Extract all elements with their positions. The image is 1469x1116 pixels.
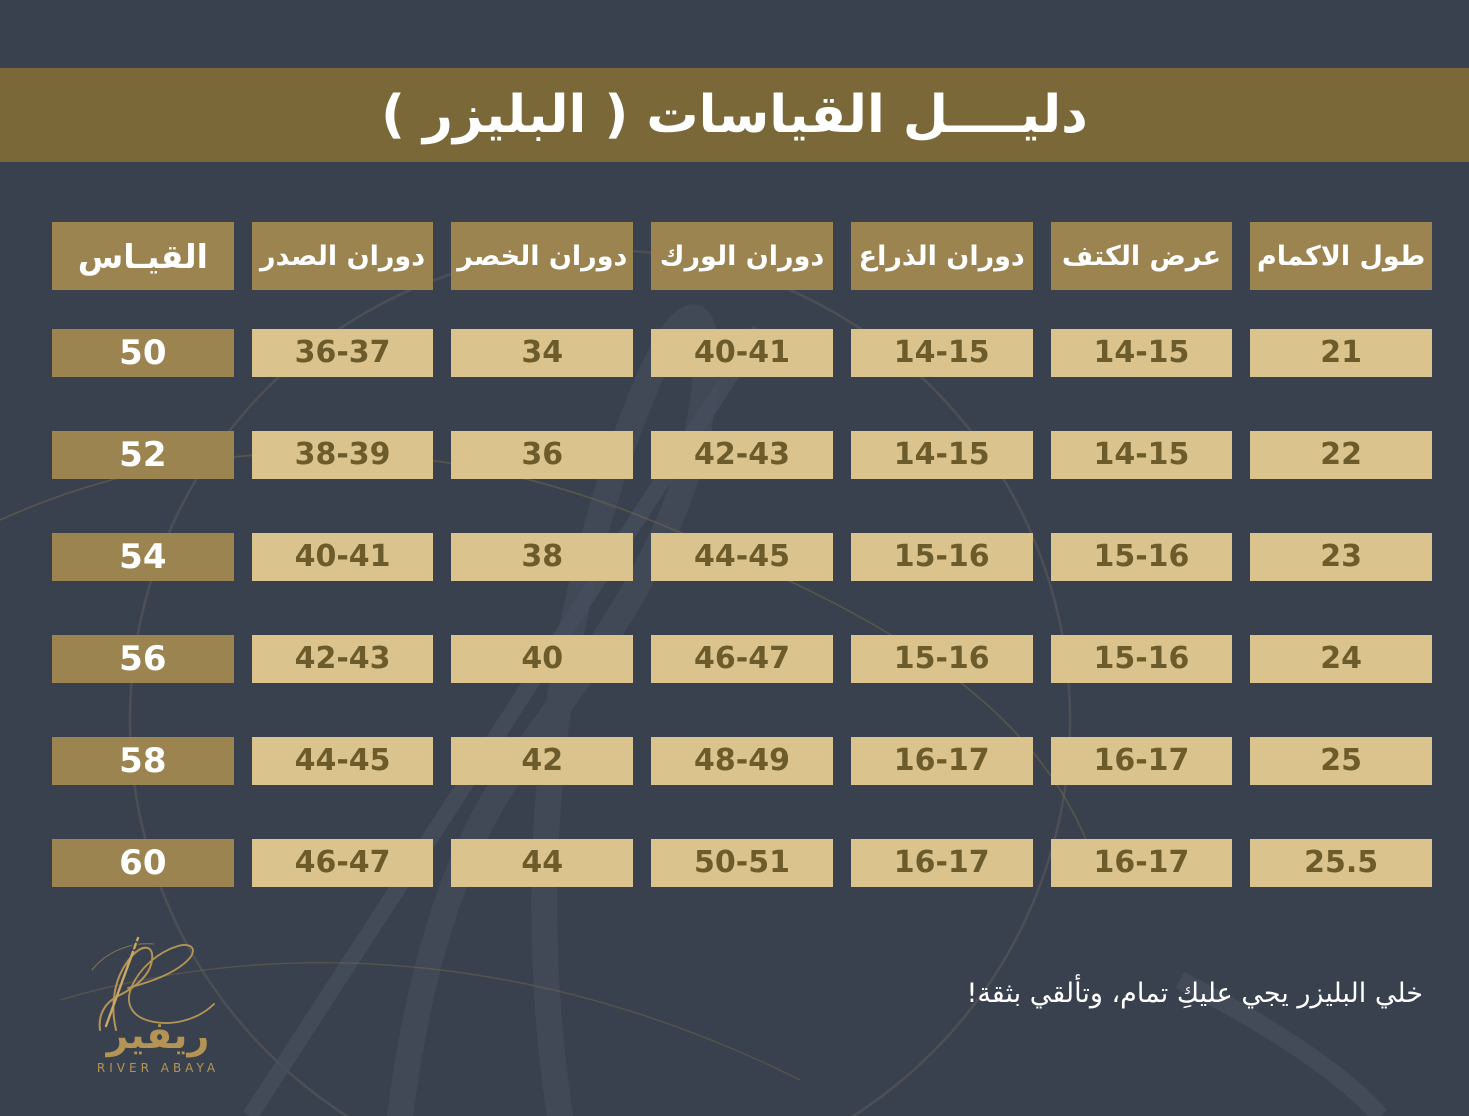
table-row: 21 14-15 14-15 40-41 34 36-37 50 <box>52 329 1432 377</box>
size-guide-table: طول الاكمام عرض الكتف دوران الذراع دوران… <box>52 222 1432 887</box>
logo-english-wordmark: RIVER ABAYA <box>58 1062 258 1074</box>
cell-shoulder-width: 14-15 <box>1051 431 1233 479</box>
cell-waist-circumference: 44 <box>451 839 633 887</box>
cell-size: 52 <box>52 431 234 479</box>
cell-shoulder-width: 16-17 <box>1051 839 1233 887</box>
column-header-hip-circumference: دوران الورك <box>651 222 833 290</box>
cell-arm-circumference: 15-16 <box>851 533 1033 581</box>
logo-arabic-wordmark: ريفير <box>58 1016 258 1054</box>
cell-size: 56 <box>52 635 234 683</box>
cell-size: 58 <box>52 737 234 785</box>
column-header-size: القيـاس <box>52 222 234 290</box>
cell-chest-circumference: 44-45 <box>252 737 434 785</box>
cell-chest-circumference: 40-41 <box>252 533 434 581</box>
page-title: دليــــل القياسات ( البليزر ) <box>381 89 1088 141</box>
cell-hip-circumference: 46-47 <box>651 635 833 683</box>
cell-arm-circumference: 14-15 <box>851 431 1033 479</box>
cell-sleeve-length: 21 <box>1250 329 1432 377</box>
column-header-arm-circumference: دوران الذراع <box>851 222 1033 290</box>
cell-sleeve-length: 25 <box>1250 737 1432 785</box>
cell-size: 50 <box>52 329 234 377</box>
cell-sleeve-length: 23 <box>1250 533 1432 581</box>
cell-waist-circumference: 42 <box>451 737 633 785</box>
cell-hip-circumference: 50-51 <box>651 839 833 887</box>
cell-arm-circumference: 14-15 <box>851 329 1033 377</box>
column-header-shoulder-width: عرض الكتف <box>1051 222 1233 290</box>
cell-arm-circumference: 16-17 <box>851 737 1033 785</box>
column-header-chest-circumference: دوران الصدر <box>252 222 434 290</box>
column-header-sleeve-length: طول الاكمام <box>1250 222 1432 290</box>
column-header-waist-circumference: دوران الخصر <box>451 222 633 290</box>
brand-logo: ريفير RIVER ABAYA <box>58 930 258 1100</box>
cell-waist-circumference: 38 <box>451 533 633 581</box>
cell-sleeve-length: 25.5 <box>1250 839 1432 887</box>
table-row: 22 14-15 14-15 42-43 36 38-39 52 <box>52 431 1432 479</box>
cell-waist-circumference: 36 <box>451 431 633 479</box>
cell-chest-circumference: 36-37 <box>252 329 434 377</box>
table-row: 25.5 16-17 16-17 50-51 44 46-47 60 <box>52 839 1432 887</box>
table-row: 23 15-16 15-16 44-45 38 40-41 54 <box>52 533 1432 581</box>
cell-waist-circumference: 34 <box>451 329 633 377</box>
cell-sleeve-length: 24 <box>1250 635 1432 683</box>
cell-sleeve-length: 22 <box>1250 431 1432 479</box>
title-banner: دليــــل القياسات ( البليزر ) <box>0 68 1469 162</box>
cell-hip-circumference: 42-43 <box>651 431 833 479</box>
cell-hip-circumference: 48-49 <box>651 737 833 785</box>
cell-shoulder-width: 14-15 <box>1051 329 1233 377</box>
cell-chest-circumference: 46-47 <box>252 839 434 887</box>
cell-hip-circumference: 40-41 <box>651 329 833 377</box>
cell-waist-circumference: 40 <box>451 635 633 683</box>
cell-shoulder-width: 15-16 <box>1051 635 1233 683</box>
cell-hip-circumference: 44-45 <box>651 533 833 581</box>
cell-shoulder-width: 16-17 <box>1051 737 1233 785</box>
cell-arm-circumference: 15-16 <box>851 635 1033 683</box>
footer-tagline: خلي البليزر يجي عليكِ تمام، وتألقي بثقة! <box>967 978 1424 1010</box>
cell-size: 60 <box>52 839 234 887</box>
cell-shoulder-width: 15-16 <box>1051 533 1233 581</box>
table-row: 24 15-16 15-16 46-47 40 42-43 56 <box>52 635 1432 683</box>
cell-arm-circumference: 16-17 <box>851 839 1033 887</box>
table-header-row: طول الاكمام عرض الكتف دوران الذراع دوران… <box>52 222 1432 290</box>
cell-chest-circumference: 42-43 <box>252 635 434 683</box>
cell-chest-circumference: 38-39 <box>252 431 434 479</box>
table-row: 25 16-17 16-17 48-49 42 44-45 58 <box>52 737 1432 785</box>
cell-size: 54 <box>52 533 234 581</box>
